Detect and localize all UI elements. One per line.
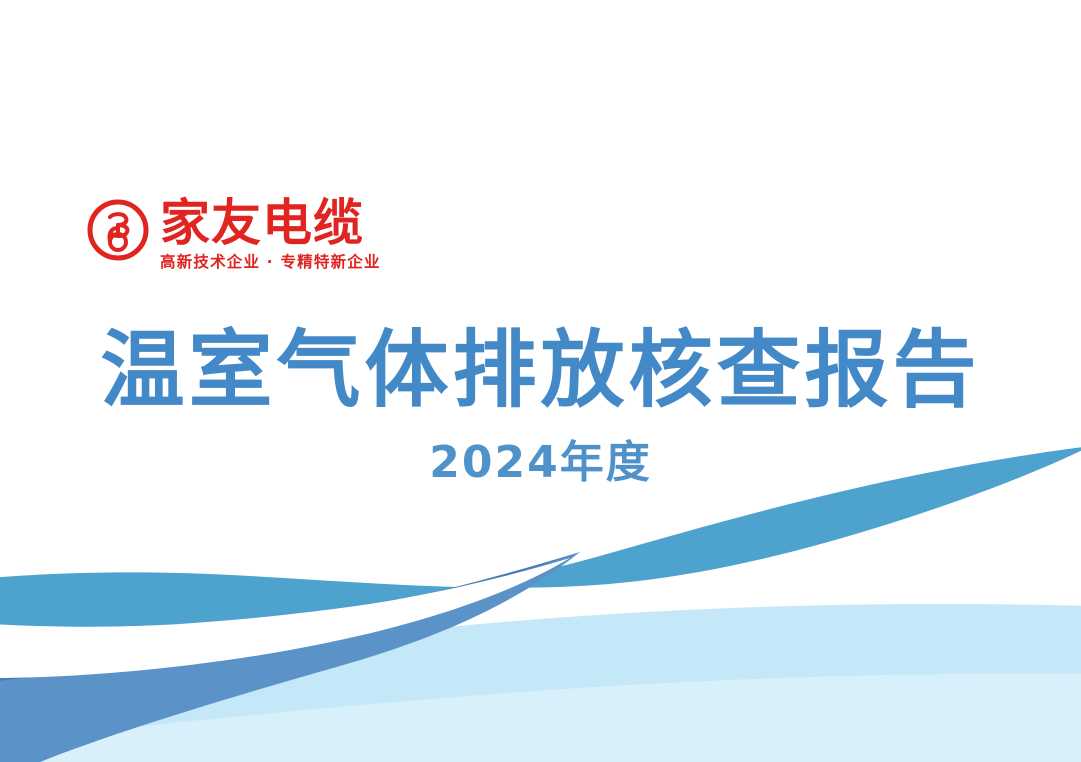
blue-sliver xyxy=(435,552,580,624)
report-title: 温室气体排放核查报告 xyxy=(0,322,1081,418)
company-logo: 家友电缆 高新技术企业 · 专精特新企业 xyxy=(86,196,381,272)
title-slide: 家友电缆 高新技术企业 · 专精特新企业 温室气体排放核查报告 2024年度 xyxy=(0,0,1081,762)
report-period: 2024年度 xyxy=(0,436,1081,490)
headline-block: 温室气体排放核查报告 2024年度 xyxy=(0,322,1081,490)
wave-white-gap-left xyxy=(0,558,570,678)
logo-text-block: 家友电缆 高新技术企业 · 专精特新企业 xyxy=(160,196,381,272)
brand-tagline: 高新技术企业 · 专精特新企业 xyxy=(160,252,381,272)
circle-emblem-icon xyxy=(86,198,150,262)
brand-name: 家友电缆 xyxy=(160,196,381,250)
medium-blue-swoosh xyxy=(0,552,580,762)
pale-blue-wave xyxy=(0,604,1081,762)
pale-blue-wave-highlight xyxy=(0,674,1081,762)
swoosh-edge-accent xyxy=(0,552,580,682)
